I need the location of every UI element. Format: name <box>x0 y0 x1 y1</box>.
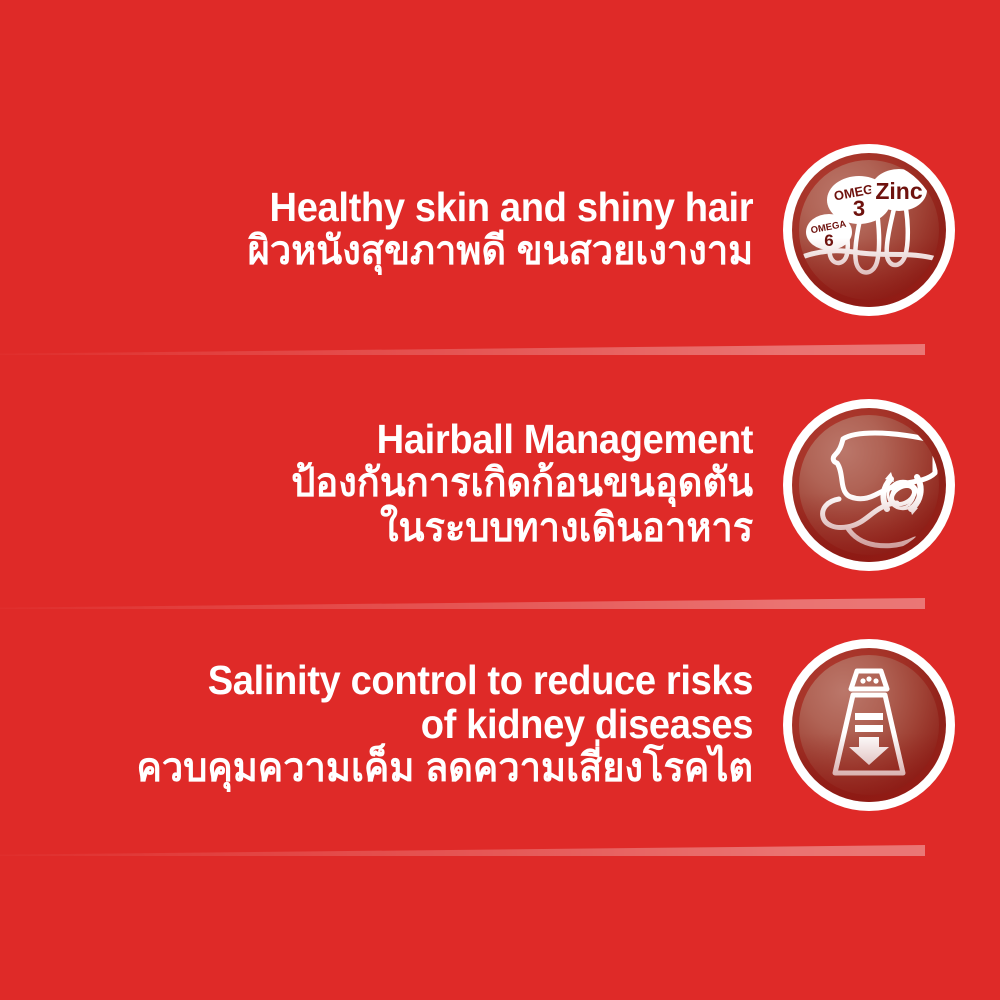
medallion-face <box>799 655 939 795</box>
salt-shaker-down-arrow-icon <box>783 639 955 811</box>
benefit-title-en: Hairball Management <box>301 418 753 461</box>
benefit-row-hairball: Hairball Management ป้องกันการเกิดก้อนขน… <box>0 392 1000 577</box>
benefit-title-th-2: ในระบบทางเดินอาหาร <box>291 506 753 551</box>
benefit-title-th: ผิวหนังสุขภาพดี ขนสวยเงางาม <box>247 229 753 274</box>
salt-reduction-illustration <box>799 655 939 795</box>
cat-head-hairball-icon <box>783 399 955 571</box>
benefit-copy-healthy-skin: Healthy skin and shiny hair ผิวหนังสุขภา… <box>221 186 783 274</box>
medallion-face <box>799 415 939 555</box>
cat-digestive-illustration <box>799 415 939 555</box>
benefit-copy-hairball: Hairball Management ป้องกันการเกิดก้อนขน… <box>267 418 783 551</box>
divider-3 <box>0 845 925 856</box>
hair-follicles-omega-zinc-icon: OMEGA 3 OMEGA 6 Zinc <box>783 144 955 316</box>
divider-1 <box>0 344 925 355</box>
benefit-title-th-1: ป้องกันการเกิดก้อนขนอุดตัน <box>291 461 753 506</box>
divider-2 <box>0 598 925 609</box>
benefit-row-salinity: Salinity control to reduce risks of kidn… <box>0 630 1000 820</box>
benefit-title-en-1: Salinity control to reduce risks <box>149 659 753 702</box>
benefit-title-th: ควบคุมความเค็ม ลดความเสี่ยงโรคไต <box>136 746 753 791</box>
badge-zinc-label: Zinc <box>875 178 922 204</box>
follicle-illustration: OMEGA 3 OMEGA 6 Zinc <box>799 160 939 300</box>
benefit-row-healthy-skin: Healthy skin and shiny hair ผิวหนังสุขภา… <box>0 140 1000 320</box>
medallion-ring <box>792 648 946 802</box>
badge-omega6-value: 6 <box>824 231 833 250</box>
medallion-ring: OMEGA 3 OMEGA 6 Zinc <box>792 153 946 307</box>
benefit-title-en: Healthy skin and shiny hair <box>258 186 753 229</box>
medallion-ring <box>792 408 946 562</box>
medallion-face: OMEGA 3 OMEGA 6 Zinc <box>799 160 939 300</box>
benefit-copy-salinity: Salinity control to reduce risks of kidn… <box>104 659 783 791</box>
benefit-title-en-2: of kidney diseases <box>149 703 753 746</box>
badge-omega3-value: 3 <box>853 196 865 221</box>
benefits-poster: Healthy skin and shiny hair ผิวหนังสุขภา… <box>0 0 1000 1000</box>
